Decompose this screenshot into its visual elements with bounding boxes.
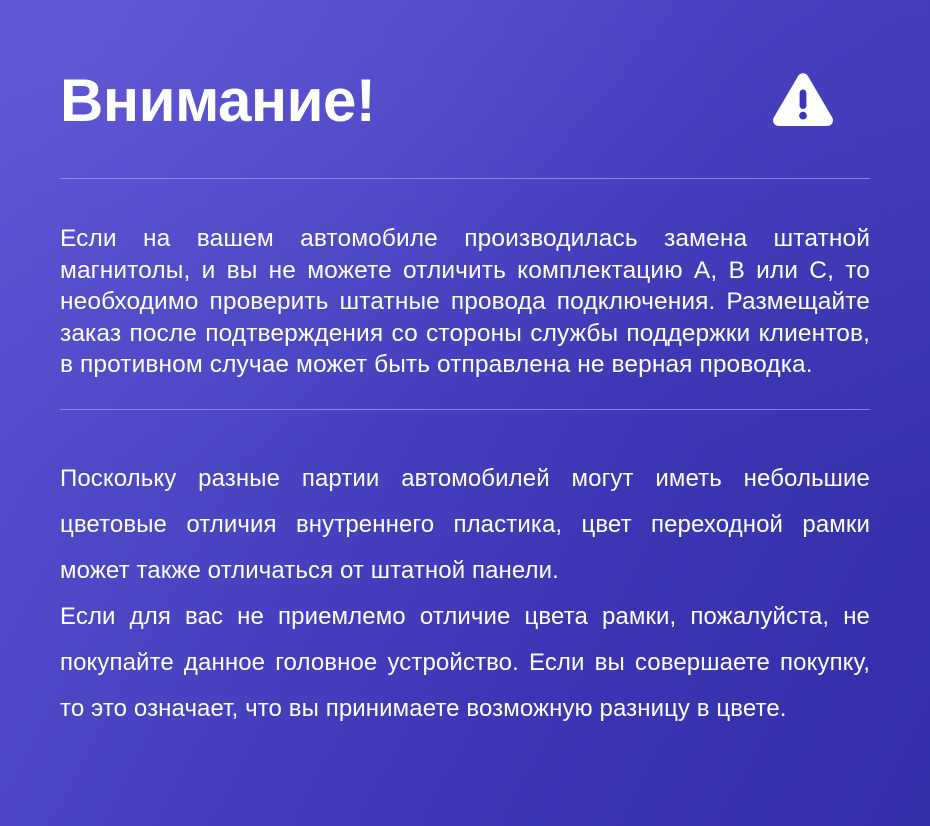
banner-header: Внимание! xyxy=(60,0,870,160)
divider-top xyxy=(60,178,870,179)
notice-block-two: Поскольку разные партии автомобилей могу… xyxy=(60,456,870,732)
warning-triangle-icon xyxy=(772,72,834,130)
notice-block-one: Если на вашем автомобиле производилась з… xyxy=(60,223,870,381)
notice-paragraph: Если для вас не приемлемо отличие цвета … xyxy=(60,594,870,732)
page-title: Внимание! xyxy=(60,71,375,131)
notice-paragraph: Если на вашем автомобиле производилась з… xyxy=(60,223,870,381)
divider-middle xyxy=(60,409,870,410)
banner-content: Внимание! Если на вашем автомобиле произ… xyxy=(0,0,930,732)
warning-banner: Внимание! Если на вашем автомобиле произ… xyxy=(0,0,930,826)
notice-paragraph: Поскольку разные партии автомобилей могу… xyxy=(60,456,870,594)
